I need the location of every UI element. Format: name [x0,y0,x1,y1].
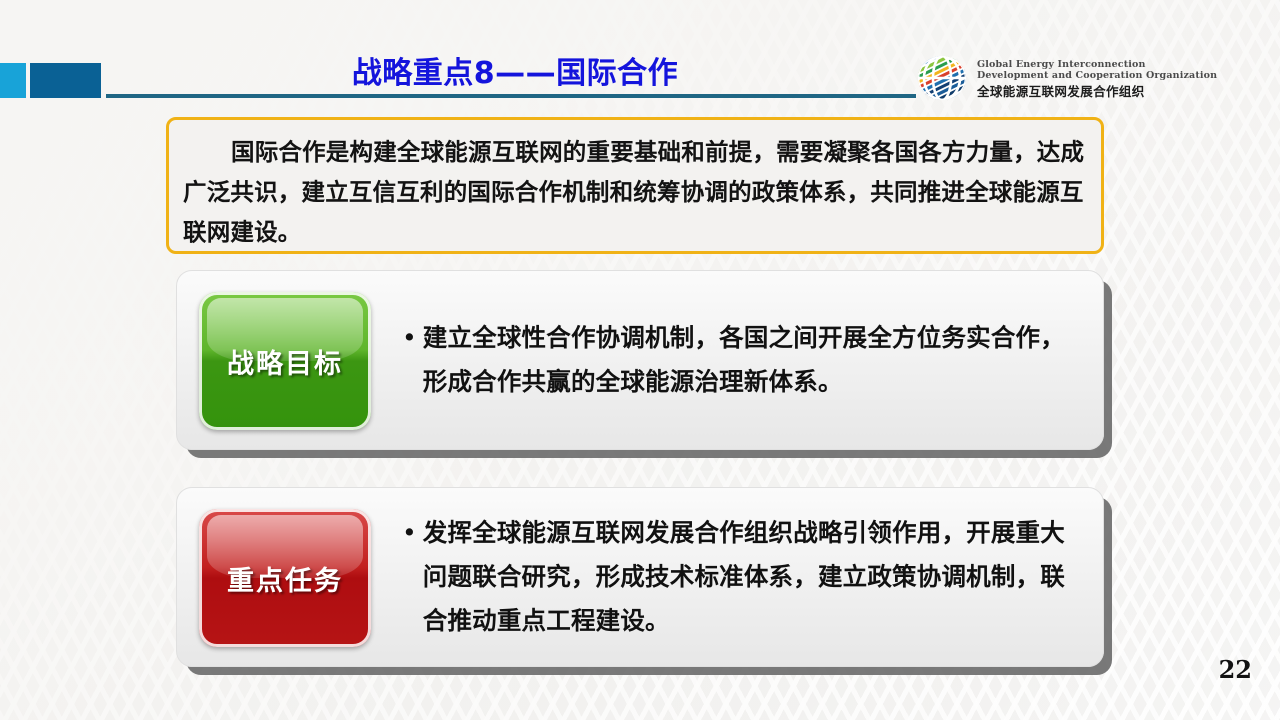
intro-callout-box: 国际合作是构建全球能源互联网的重要基础和前提，需要凝聚各国各方力量，达成广泛共识… [166,117,1104,254]
header-marker-dark-square [30,63,101,98]
bullet-dot-icon: • [402,511,417,555]
chip-strategic-goal-label: 战略目标 [227,342,343,381]
bullet-text-key-tasks: 发挥全球能源互联网发展合作组织战略引领作用，开展重大问题联合研究，形成技术标准体… [423,511,1081,643]
chip-key-tasks[interactable]: 重点任务 [199,509,371,647]
bullet-item: • 发挥全球能源互联网发展合作组织战略引领作用，开展重大问题联合研究，形成技术标… [402,511,1081,643]
page-title: 战略重点8——国际合作 [150,56,880,92]
slide-header: 战略重点8——国际合作 [0,0,1280,112]
title-underline-rule [106,94,916,98]
org-name-en-line2: Development and Cooperation Organization [977,70,1217,82]
page-number: 22 [1219,655,1252,684]
chip-key-tasks-label: 重点任务 [227,559,343,598]
intro-paragraph: 国际合作是构建全球能源互联网的重要基础和前提，需要凝聚各国各方力量，达成广泛共识… [169,120,1101,252]
organization-logo-text: Global Energy Interconnection Developmen… [977,57,1217,100]
organization-logo: Global Energy Interconnection Developmen… [915,50,1235,106]
chip-strategic-goal[interactable]: 战略目标 [199,292,371,430]
card-body-key-tasks: • 发挥全球能源互联网发展合作组织战略引领作用，开展重大问题联合研究，形成技术标… [402,488,1081,666]
content-card-strategic-goal: 战略目标 • 建立全球性合作协调机制，各国之间开展全方位务实合作，形成合作共赢的… [176,270,1104,450]
org-name-en-line1: Global Energy Interconnection [977,59,1217,71]
bullet-text-strategic-goal: 建立全球性合作协调机制，各国之间开展全方位务实合作，形成合作共赢的全球能源治理新… [423,316,1081,404]
card-body-strategic-goal: • 建立全球性合作协调机制，各国之间开展全方位务实合作，形成合作共赢的全球能源治… [402,271,1081,449]
header-marker-light-square [0,63,26,98]
org-name-cn: 全球能源互联网发展合作组织 [977,84,1217,100]
slide-canvas: 战略重点8——国际合作 [0,0,1280,720]
bullet-dot-icon: • [402,316,417,360]
globe-logo-icon [915,52,969,104]
content-card-key-tasks: 重点任务 • 发挥全球能源互联网发展合作组织战略引领作用，开展重大问题联合研究，… [176,487,1104,667]
bullet-item: • 建立全球性合作协调机制，各国之间开展全方位务实合作，形成合作共赢的全球能源治… [402,316,1081,404]
